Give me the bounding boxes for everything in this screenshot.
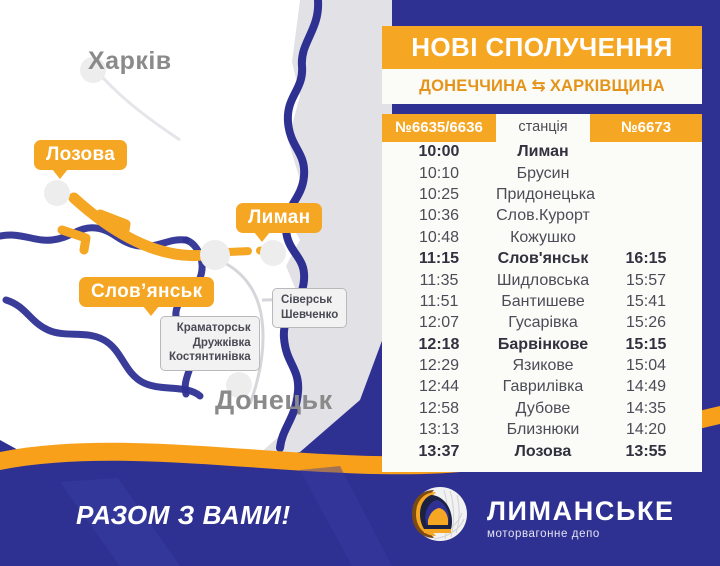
table-row: 12:29Язикове15:04 <box>382 355 702 376</box>
footer-logo-text: ЛИМАНСЬКЕ моторвагонне депо <box>487 498 675 540</box>
map-pin-lozova[interactable]: Лозова <box>34 140 127 170</box>
cell-return-time: 13:55 <box>590 443 702 461</box>
map-label-kharkiv: Харків <box>88 47 172 76</box>
cell-return-time: 14:35 <box>590 400 702 418</box>
timetable-rows: 10:00Лиман10:10Брусин10:25Придонецька10:… <box>382 142 702 463</box>
cell-station-name: Гусарівка <box>496 314 590 332</box>
cell-station-name: Брусин <box>496 165 590 183</box>
table-row: 10:36Слов.Курорт <box>382 206 702 227</box>
cell-station-name: Шидловська <box>496 272 590 290</box>
swap-arrow-icon: ⇆ <box>527 76 549 95</box>
timetable: №6635/6636 станція №6673 10:00Лиман10:10… <box>382 114 702 473</box>
table-row: 13:37Лозова13:55 <box>382 441 702 462</box>
poster: Харків Донецьк Лозова Лиман Слов’янськ К… <box>0 0 720 566</box>
cell-station-name: Слов.Курорт <box>496 207 590 225</box>
subtitle-destination-region: ХАРКІВЩИНА <box>550 77 665 95</box>
cell-station-name: Барвінкове <box>496 336 590 354</box>
map-note-siversk: СіверськШевченко <box>272 288 347 328</box>
cell-station-name: Близнюки <box>496 421 590 439</box>
table-row: 12:44Гаврилівка14:49 <box>382 377 702 398</box>
cell-return-time: 16:15 <box>590 250 702 268</box>
liman-depot-logo-icon <box>404 483 470 549</box>
cell-departure-time: 12:58 <box>382 400 496 418</box>
cell-station-name: Кожушко <box>496 229 590 247</box>
table-row: 11:15Слов'янськ16:15 <box>382 248 702 269</box>
table-row: 10:25Придонецька <box>382 184 702 205</box>
table-row: 12:58Дубове14:35 <box>382 398 702 419</box>
panel-title: НОВІ СПОЛУЧЕННЯ <box>382 26 702 69</box>
cell-return-time: 14:20 <box>590 421 702 439</box>
cell-station-name: Гаврилівка <box>496 378 590 396</box>
cell-station-name: Язикове <box>496 357 590 375</box>
cell-station-name: Слов'янськ <box>496 250 590 268</box>
cell-station-name: Придонецька <box>496 186 590 204</box>
table-row: 10:00Лиман <box>382 142 702 163</box>
timetable-header-row: №6635/6636 станція №6673 <box>382 114 702 142</box>
column-header-station: станція <box>496 114 590 142</box>
cell-departure-time: 11:35 <box>382 272 496 290</box>
table-row: 13:13Близнюки14:20 <box>382 420 702 441</box>
cell-departure-time: 10:48 <box>382 229 496 247</box>
cell-departure-time: 12:07 <box>382 314 496 332</box>
cell-departure-time: 10:00 <box>382 143 496 161</box>
map-dot-lozova <box>44 180 70 206</box>
cell-return-time: 15:15 <box>590 336 702 354</box>
cell-departure-time: 10:10 <box>382 165 496 183</box>
table-row: 10:48Кожушко <box>382 227 702 248</box>
panel-subtitle: ДОНЕЧЧИНА⇆ХАРКІВЩИНА <box>382 69 702 104</box>
map-pin-sloviansk[interactable]: Слов’янськ <box>79 277 214 307</box>
map-pin-lyman[interactable]: Лиман <box>236 203 322 233</box>
subtitle-origin-region: ДОНЕЧЧИНА <box>419 77 527 95</box>
cell-departure-time: 12:44 <box>382 378 496 396</box>
logo-company-subtitle: моторвагонне депо <box>487 528 675 540</box>
map-dot-sloviansk <box>200 240 230 270</box>
cell-return-time: 14:49 <box>590 378 702 396</box>
info-panel: НОВІ СПОЛУЧЕННЯ ДОНЕЧЧИНА⇆ХАРКІВЩИНА №66… <box>382 26 702 472</box>
map-dot-lyman <box>260 240 286 266</box>
cell-departure-time: 12:29 <box>382 357 496 375</box>
table-row: 10:10Брусин <box>382 163 702 184</box>
cell-return-time: 15:57 <box>590 272 702 290</box>
cell-station-name: Лиман <box>496 143 590 161</box>
cell-departure-time: 10:36 <box>382 207 496 225</box>
cell-departure-time: 13:13 <box>382 421 496 439</box>
column-header-train-6673: №6673 <box>590 114 702 142</box>
table-row: 11:35Шидловська15:57 <box>382 270 702 291</box>
table-row: 12:07Гусарівка15:26 <box>382 313 702 334</box>
cell-station-name: Бантишеве <box>496 293 590 311</box>
table-row: 12:18Барвінкове15:15 <box>382 334 702 355</box>
cell-departure-time: 12:18 <box>382 336 496 354</box>
cell-return-time: 15:04 <box>590 357 702 375</box>
table-row: 11:51Бантишеве15:41 <box>382 291 702 312</box>
footer-slogan: РАЗОМ З ВАМИ! <box>76 500 291 531</box>
cell-return-time: 15:26 <box>590 314 702 332</box>
map-note-kramatorsk: КраматорськДружківкаКостянтинівка <box>160 316 260 371</box>
cell-departure-time: 11:51 <box>382 293 496 311</box>
cell-station-name: Лозова <box>496 443 590 461</box>
cell-station-name: Дубове <box>496 400 590 418</box>
cell-departure-time: 10:25 <box>382 186 496 204</box>
column-header-train-6635: №6635/6636 <box>382 114 496 142</box>
map-label-donetsk: Донецьк <box>215 385 333 416</box>
cell-departure-time: 13:37 <box>382 443 496 461</box>
cell-departure-time: 11:15 <box>382 250 496 268</box>
cell-return-time: 15:41 <box>590 293 702 311</box>
logo-company-name: ЛИМАНСЬКЕ <box>487 498 675 525</box>
